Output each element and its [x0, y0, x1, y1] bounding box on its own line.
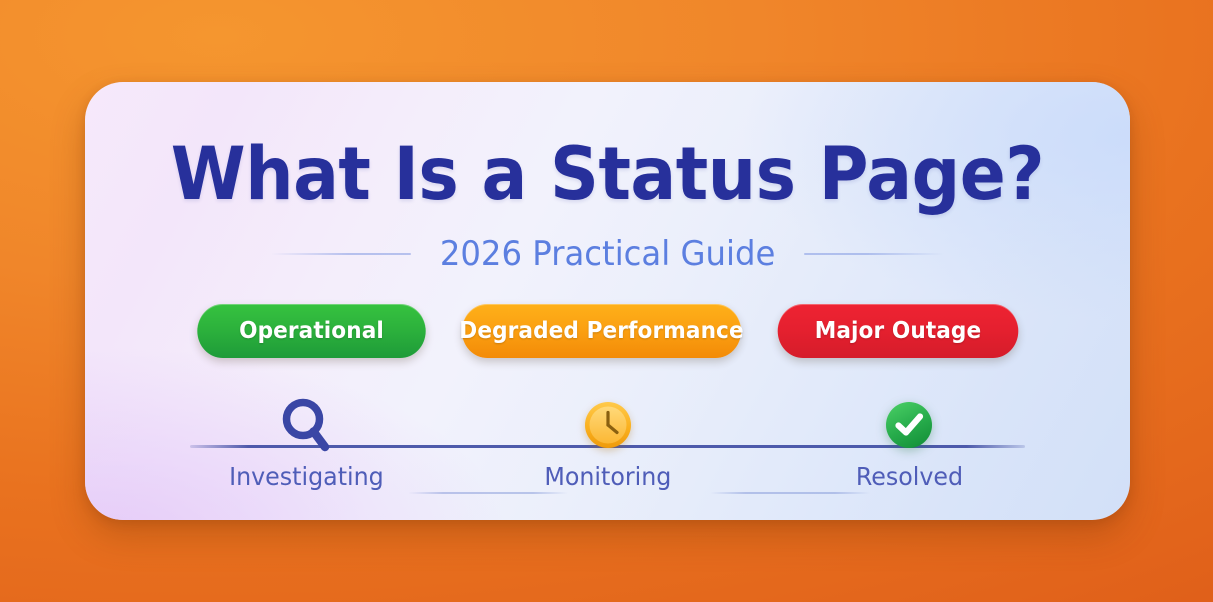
- timeline-steps: Investigating: [190, 394, 1025, 504]
- subtitle-rule-right: [804, 253, 944, 255]
- subtitle-rule-left: [271, 253, 411, 255]
- clock-icon: [577, 394, 639, 456]
- timeline-step-label-monitoring: Monitoring: [544, 462, 671, 491]
- timeline-step-label-investigating: Investigating: [229, 462, 384, 491]
- status-page-card: What Is a Status Page? 2026 Practical Gu…: [85, 82, 1130, 520]
- status-badge-degraded-performance[interactable]: Degraded Performance: [461, 304, 740, 358]
- card-content: What Is a Status Page? 2026 Practical Gu…: [85, 82, 1130, 520]
- magnifier-icon: [275, 394, 337, 456]
- timeline-step-resolved[interactable]: Resolved: [809, 394, 1009, 491]
- timeline-step-label-resolved: Resolved: [855, 462, 962, 491]
- check-circle-icon: [878, 394, 940, 456]
- status-badge-operational[interactable]: Operational: [197, 304, 425, 358]
- incident-timeline: Investigating: [190, 394, 1025, 504]
- page-title: What Is a Status Page?: [122, 138, 1094, 211]
- timeline-step-investigating[interactable]: Investigating: [206, 394, 406, 491]
- status-badge-group: Operational Degraded Performance Major O…: [85, 304, 1130, 358]
- status-badge-major-outage[interactable]: Major Outage: [777, 304, 1018, 358]
- subtitle-row: 2026 Practical Guide: [85, 232, 1130, 276]
- timeline-step-monitoring[interactable]: Monitoring: [508, 394, 708, 491]
- page-subtitle: 2026 Practical Guide: [440, 234, 775, 274]
